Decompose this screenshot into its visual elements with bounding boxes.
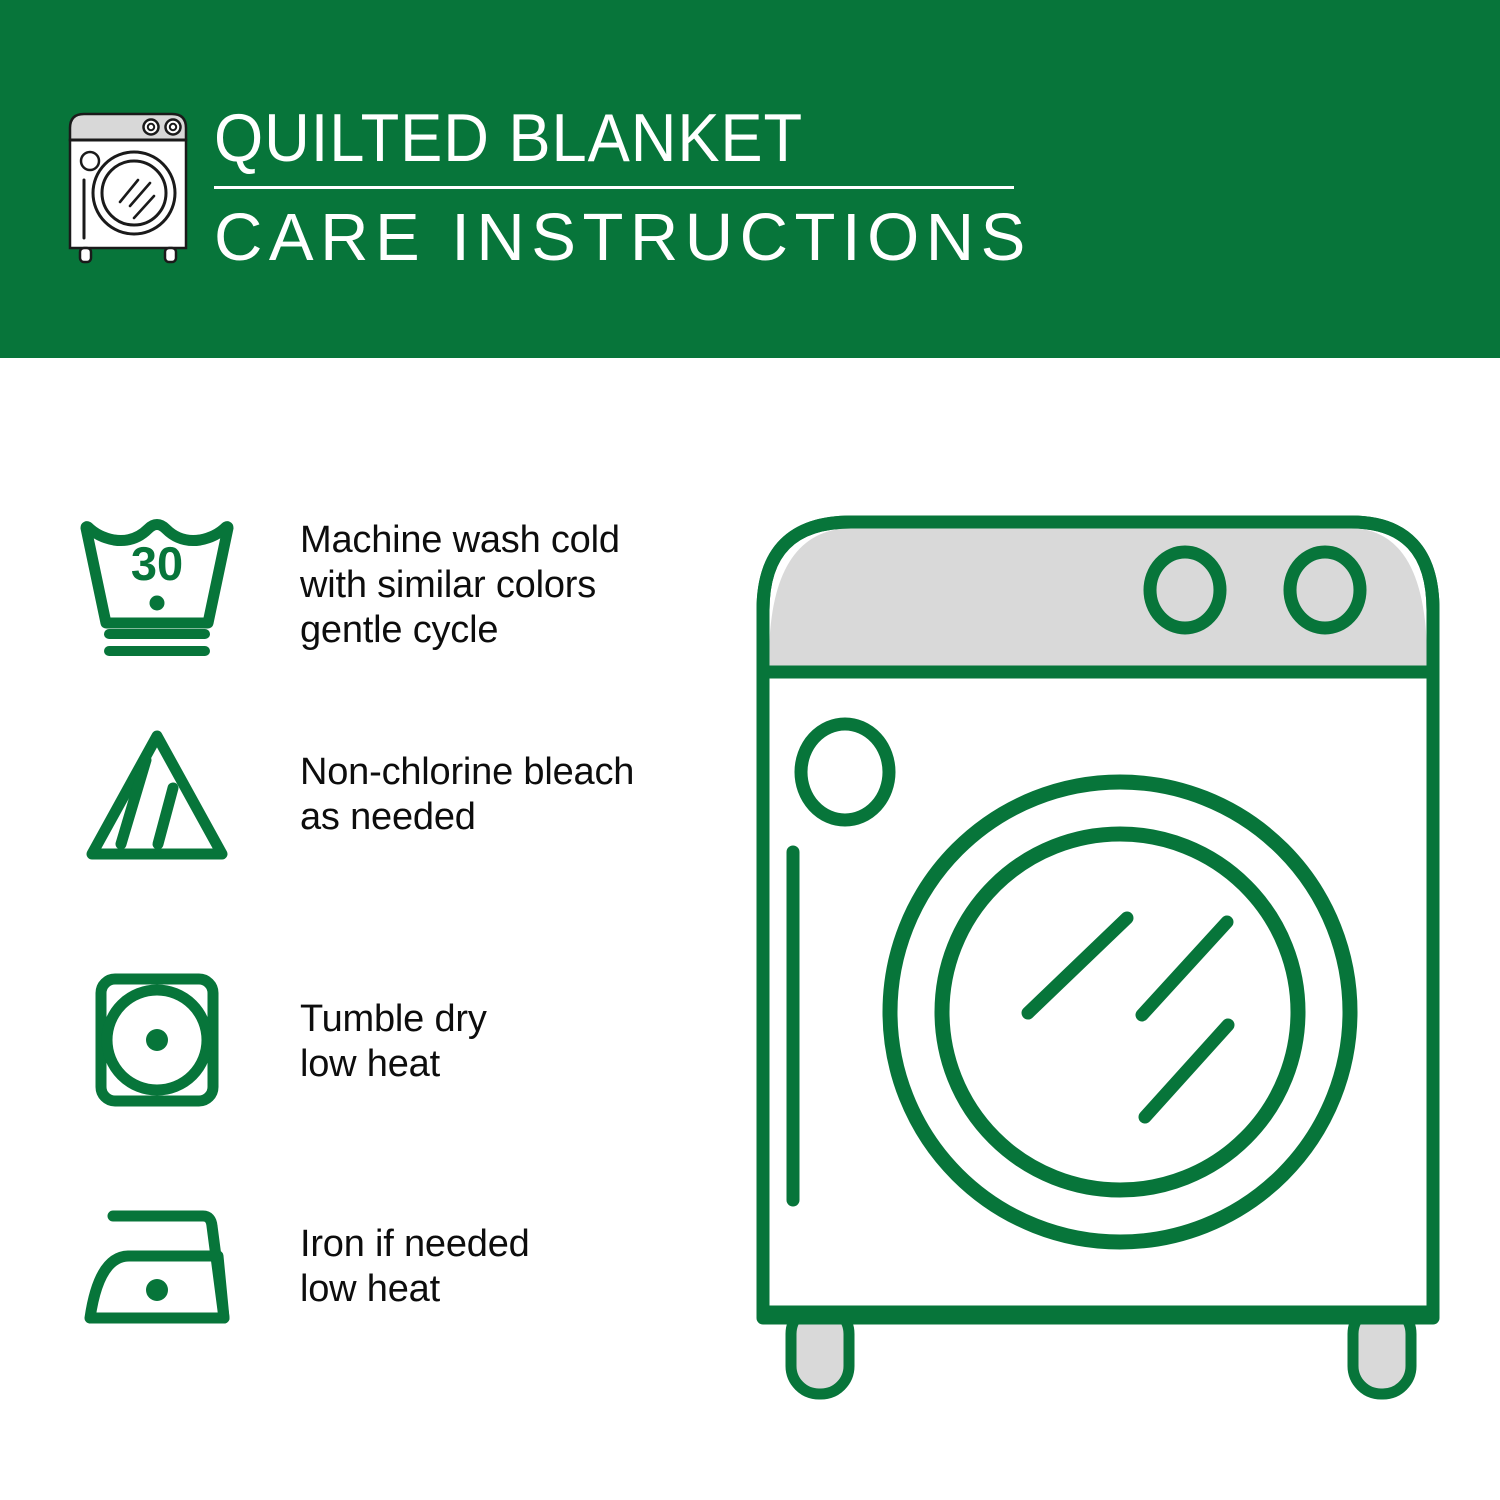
title-divider	[214, 186, 1014, 189]
care-instructions-infographic: QUILTED BLANKET CARE INSTRUCTIONS 30	[0, 0, 1500, 1500]
page-subtitle: CARE INSTRUCTIONS	[214, 199, 1014, 277]
page-title: QUILTED BLANKET	[214, 98, 958, 178]
care-item-label: Machine wash cold with similar colors ge…	[300, 518, 620, 653]
knob-right	[1290, 552, 1360, 628]
care-item-bleach: Non-chlorine bleach as needed	[0, 710, 740, 890]
tumble-dry-low-heat-icon	[72, 955, 242, 1125]
header-title-block: QUILTED BLANKET CARE INSTRUCTIONS	[214, 98, 1014, 277]
care-item-label: Non-chlorine bleach as needed	[300, 750, 634, 840]
care-item-machine-wash: 30 Machine wash cold with similar colors…	[0, 500, 740, 680]
indicator-light	[801, 724, 889, 820]
door-inner-ring	[942, 834, 1298, 1190]
front-load-washing-machine-illustration	[745, 500, 1445, 1430]
care-item-iron: Iron if needed low heat	[0, 1180, 740, 1360]
svg-text:30: 30	[131, 537, 183, 590]
header-banner: QUILTED BLANKET CARE INSTRUCTIONS	[0, 0, 1500, 358]
knob-left	[1150, 552, 1220, 628]
care-item-tumble-dry: Tumble dry low heat	[0, 955, 740, 1135]
care-item-label: Tumble dry low heat	[300, 997, 487, 1087]
washing-machine-icon	[62, 104, 194, 264]
non-chlorine-bleach-triangle-icon	[72, 710, 242, 880]
iron-low-heat-icon	[72, 1180, 242, 1350]
wash-tub-30-gentle-icon: 30	[72, 500, 242, 670]
care-item-label: Iron if needed low heat	[300, 1222, 530, 1312]
